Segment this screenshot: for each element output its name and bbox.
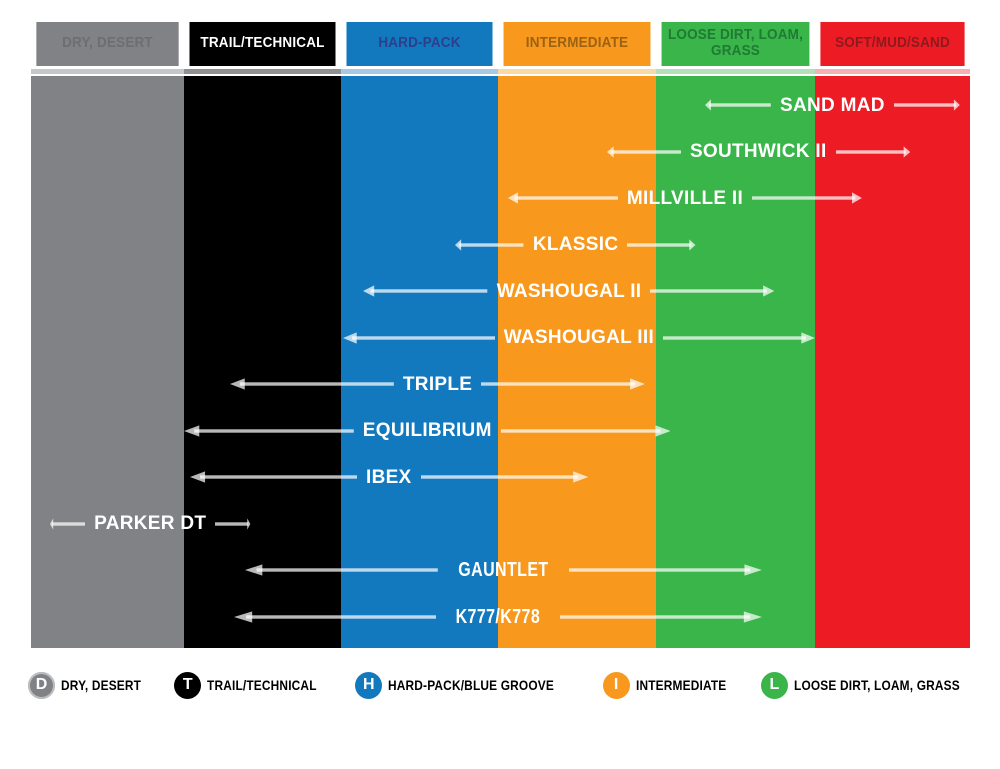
range-label: K777/K778 xyxy=(448,607,547,627)
arrow-left-icon xyxy=(190,467,357,487)
terrain-column-dry-desert xyxy=(31,76,184,648)
terrain-chart: DRY, DESERTTRAIL/TECHNICALHARD-PACKINTER… xyxy=(0,0,1000,769)
range-label: SAND MAD xyxy=(771,96,894,115)
column-header-3: INTERMEDIATE xyxy=(504,22,651,66)
range-label: EQUILIBRIUM xyxy=(354,421,501,440)
legend-item-l[interactable]: LLOOSE DIRT, LOAM, GRASS xyxy=(761,672,989,699)
range-row[interactable]: MILLVILLE II xyxy=(508,185,862,211)
legend-label: INTERMEDIATE xyxy=(636,677,726,693)
legend-item-h[interactable]: HHARD-PACK/BLUE GROOVE xyxy=(355,672,583,699)
arrow-left-icon xyxy=(50,514,85,534)
legend-label: DRY, DESERT xyxy=(61,677,141,693)
range-label: MILLVILLE II xyxy=(618,189,752,208)
arrow-left-icon xyxy=(455,235,523,255)
header-divider-1 xyxy=(184,69,341,74)
range-row[interactable]: K777/K778 xyxy=(234,604,762,630)
header-divider-5 xyxy=(815,69,970,74)
legend-label: HARD-PACK/BLUE GROOVE xyxy=(388,677,554,693)
arrow-right-icon xyxy=(215,514,250,534)
legend-badge-i-icon: I xyxy=(603,672,630,699)
range-label: KLASSIC xyxy=(524,235,628,254)
range-row[interactable]: SAND MAD xyxy=(705,92,959,118)
range-row[interactable]: TRIPLE xyxy=(230,371,645,397)
range-label: TRIPLE xyxy=(394,375,481,394)
legend-item-t[interactable]: TTRAIL/TECHNICAL xyxy=(174,672,336,699)
arrow-right-icon xyxy=(836,142,910,162)
arrow-right-icon xyxy=(663,328,815,348)
range-row[interactable]: WASHOUGAL II xyxy=(363,278,774,304)
arrow-left-icon xyxy=(184,421,354,441)
column-header-4: LOOSE DIRT, LOAM, GRASS xyxy=(662,22,810,66)
range-row[interactable]: KLASSIC xyxy=(455,232,695,258)
header-divider-0 xyxy=(31,69,184,74)
arrow-right-icon xyxy=(894,95,960,115)
range-label: WASHOUGAL III xyxy=(495,328,663,347)
arrow-left-icon xyxy=(607,142,681,162)
range-row[interactable]: GAUNTLET xyxy=(245,557,761,583)
arrow-left-icon xyxy=(508,188,618,208)
legend-badge-l-icon: L xyxy=(761,672,788,699)
arrow-left-icon xyxy=(363,281,487,301)
legend-badge-d-icon: D xyxy=(28,672,55,699)
range-label: IBEX xyxy=(357,468,421,487)
arrow-left-icon xyxy=(343,328,495,348)
legend-badge-h-icon: H xyxy=(355,672,382,699)
arrow-right-icon xyxy=(569,560,762,580)
arrow-right-icon xyxy=(627,235,695,255)
column-header-2: HARD-PACK xyxy=(346,22,492,66)
legend-item-d[interactable]: DDRY, DESERT xyxy=(28,672,155,699)
range-row[interactable]: PARKER DT xyxy=(50,511,251,537)
column-header-0: DRY, DESERT xyxy=(36,22,178,66)
range-row[interactable]: IBEX xyxy=(190,464,588,490)
header-divider-4 xyxy=(656,69,815,74)
terrain-legend: DDRY, DESERTTTRAIL/TECHNICALHHARD-PACK/B… xyxy=(28,668,972,702)
range-row[interactable]: WASHOUGAL III xyxy=(343,325,815,351)
column-header-5: SOFT/MUD/SAND xyxy=(820,22,964,66)
arrow-left-icon xyxy=(705,95,771,115)
header-divider-3 xyxy=(498,69,656,74)
arrow-right-icon xyxy=(421,467,588,487)
header-divider-2 xyxy=(341,69,498,74)
range-row[interactable]: EQUILIBRIUM xyxy=(184,418,670,444)
legend-item-i[interactable]: IINTERMEDIATE xyxy=(603,672,742,699)
arrow-right-icon xyxy=(650,281,774,301)
range-label: GAUNTLET xyxy=(451,560,556,580)
legend-label: LOOSE DIRT, LOAM, GRASS xyxy=(794,677,960,693)
range-label: PARKER DT xyxy=(85,514,215,533)
column-header-1: TRAIL/TECHNICAL xyxy=(189,22,335,66)
arrow-right-icon xyxy=(752,188,862,208)
legend-badge-t-icon: T xyxy=(174,672,201,699)
arrow-right-icon xyxy=(481,374,645,394)
arrow-right-icon xyxy=(501,421,671,441)
range-label: WASHOUGAL II xyxy=(488,282,651,301)
header-divider-band xyxy=(31,69,970,74)
range-row[interactable]: SOUTHWICK II xyxy=(607,139,910,165)
column-header-band: DRY, DESERTTRAIL/TECHNICALHARD-PACKINTER… xyxy=(31,22,970,66)
arrow-left-icon xyxy=(234,607,436,627)
range-label: SOUTHWICK II xyxy=(681,142,836,161)
arrow-left-icon xyxy=(245,560,438,580)
arrow-left-icon xyxy=(230,374,394,394)
legend-label: TRAIL/TECHNICAL xyxy=(207,677,317,693)
arrow-right-icon xyxy=(560,607,762,627)
